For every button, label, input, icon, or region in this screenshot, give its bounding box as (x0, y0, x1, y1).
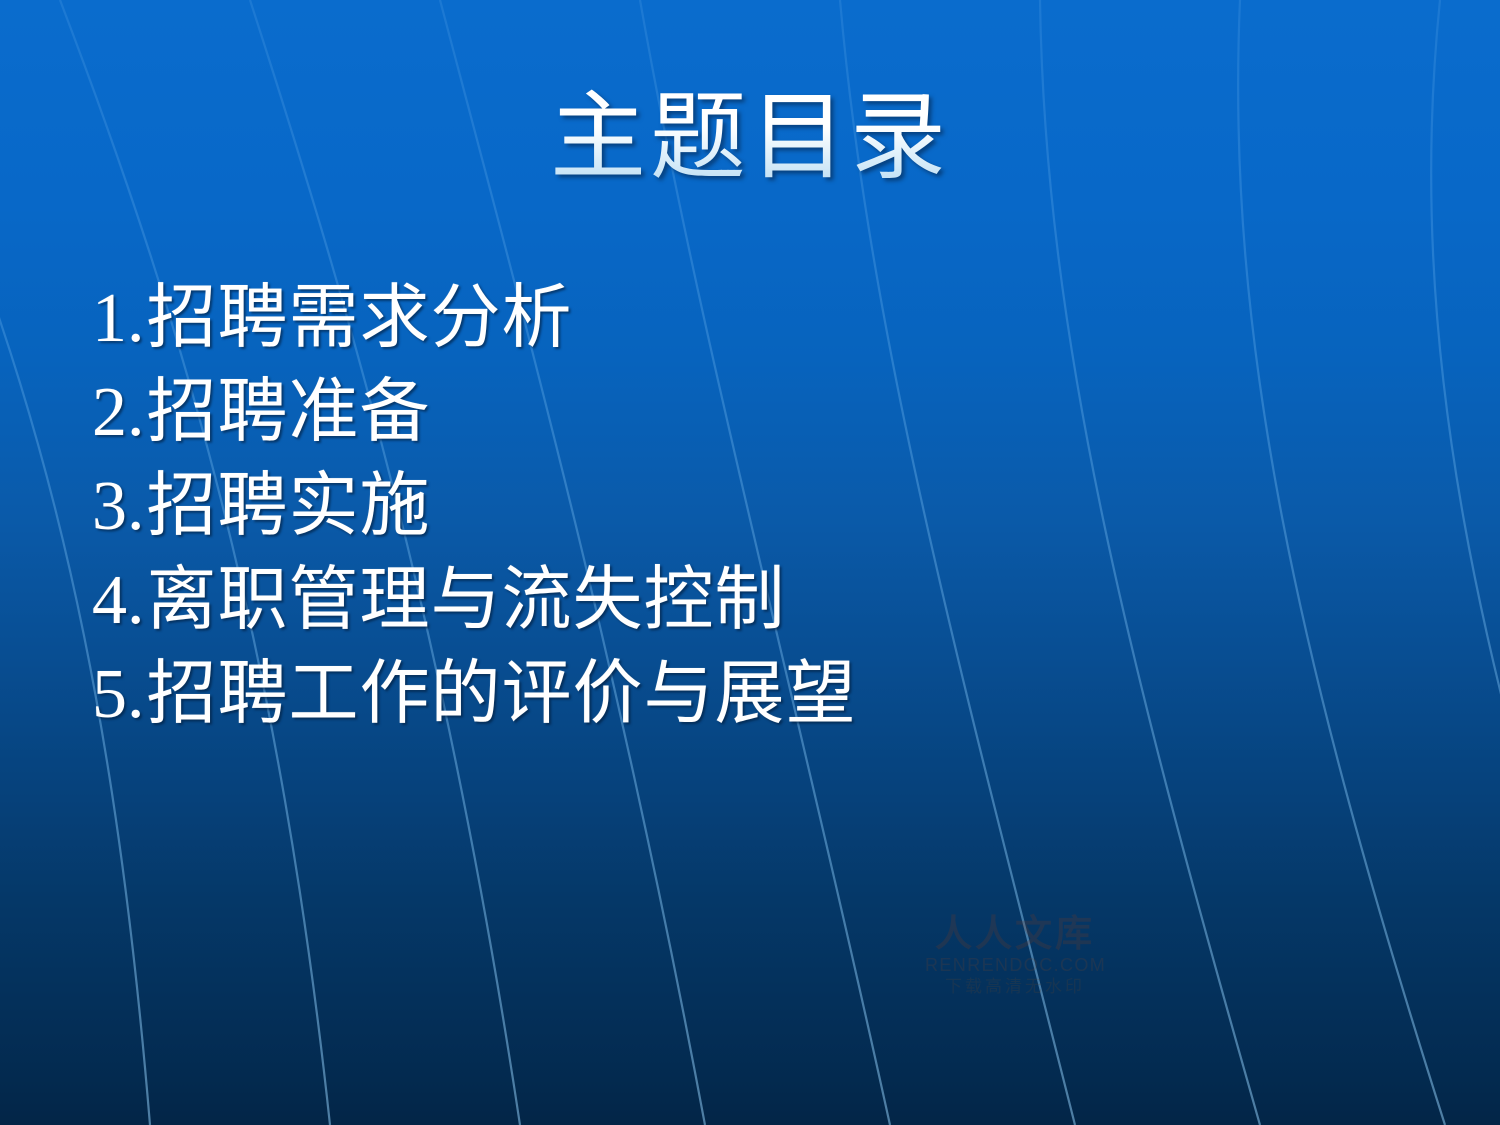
watermark-url: RENRENDOC.COM (925, 955, 1105, 976)
list-item-number: 1. (92, 272, 147, 366)
slide-title: 主题目录 (0, 88, 1500, 189)
list-item[interactable]: 5. 招聘工作的评价与展望 (92, 648, 1392, 742)
list-item-number: 2. (92, 366, 147, 460)
list-item[interactable]: 3. 招聘实施 (92, 460, 1392, 554)
presentation-slide: 主题目录 1. 招聘需求分析 2. 招聘准备 3. 招聘实施 4. 离职管理与流… (0, 0, 1500, 1125)
watermark-brand: 人人文库 (925, 915, 1105, 955)
list-item-label: 离职管理与流失控制 (147, 554, 786, 648)
list-item-number: 3. (92, 460, 147, 554)
list-item[interactable]: 4. 离职管理与流失控制 (92, 554, 1392, 648)
watermark-subtitle: 下载高清无水印 (925, 976, 1105, 997)
list-item-label: 招聘准备 (147, 366, 431, 460)
watermark: 人人文库 RENRENDOC.COM 下载高清无水印 (925, 915, 1105, 997)
list-item-label: 招聘实施 (147, 460, 431, 554)
list-item[interactable]: 2. 招聘准备 (92, 366, 1392, 460)
list-item-number: 5. (92, 648, 147, 742)
table-of-contents-list: 1. 招聘需求分析 2. 招聘准备 3. 招聘实施 4. 离职管理与流失控制 5… (92, 272, 1392, 742)
list-item[interactable]: 1. 招聘需求分析 (92, 272, 1392, 366)
list-item-label: 招聘工作的评价与展望 (147, 648, 857, 742)
list-item-label: 招聘需求分析 (147, 272, 573, 366)
list-item-number: 4. (92, 554, 147, 648)
